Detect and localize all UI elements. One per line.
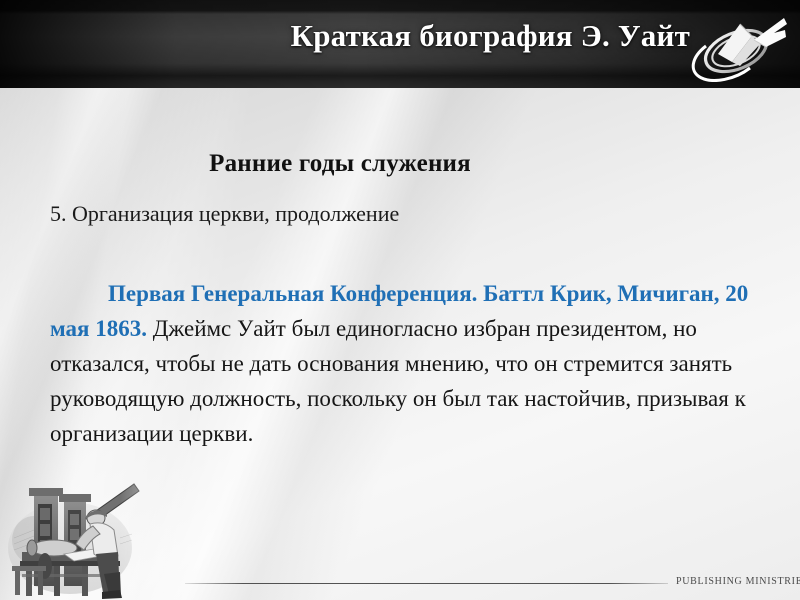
slide-canvas: Краткая биография Э. Уайт [0, 0, 800, 600]
printing-press-engraving-icon [8, 478, 190, 600]
section-heading: Ранние годы служения [50, 150, 750, 178]
footer-brand-label: PUBLISHING MINISTRIES [676, 576, 800, 587]
footer-divider [185, 583, 668, 584]
section-subheading: 5. Организация церкви, продолжение [50, 201, 399, 227]
paragraph-body-text: Джеймс Уайт был единогласно избран прези… [50, 316, 746, 446]
page-title: Краткая биография Э. Уайт [0, 18, 690, 54]
slide-header-band: Краткая биография Э. Уайт [0, 0, 800, 88]
book-with-quill-and-orbit-icon [688, 6, 796, 82]
body-paragraph: Первая Генеральная Конференция. Баттл Кр… [50, 276, 775, 451]
